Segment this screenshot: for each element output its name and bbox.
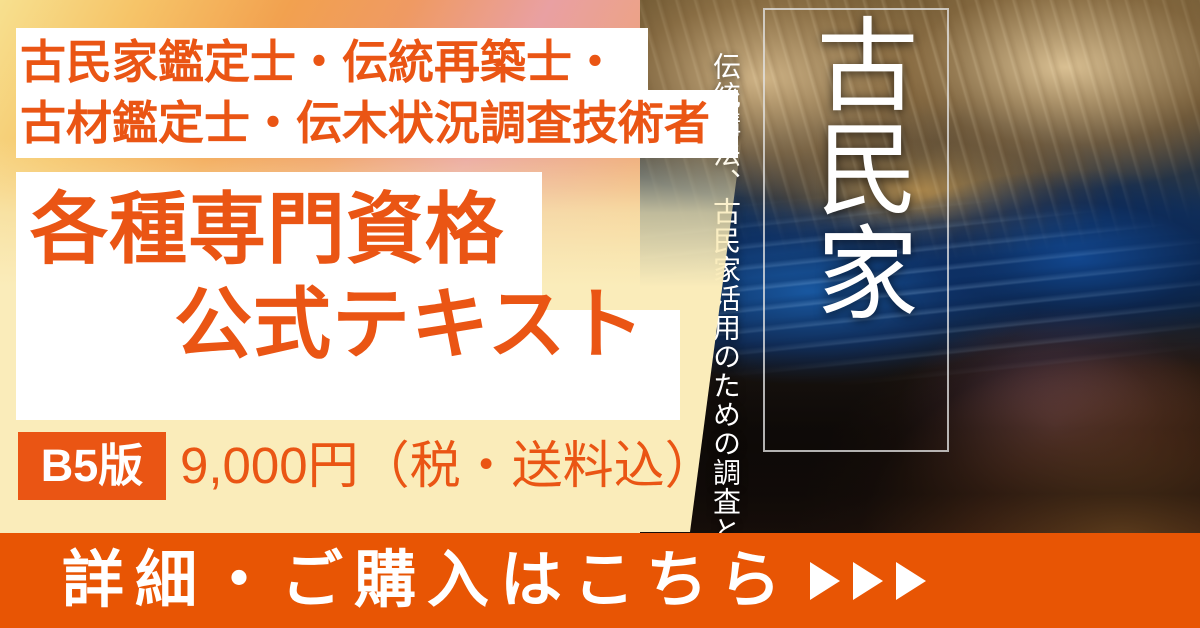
subheadline-line-1: 各種専門資格 bbox=[24, 182, 674, 277]
price-text: 9,000円（税・送料込） bbox=[180, 432, 716, 500]
headline-line-2: 古材鑑定士・伝木状況調査技術者 bbox=[20, 93, 720, 154]
subheadline: 各種専門資格 公式テキスト bbox=[24, 182, 674, 372]
triangle-right-icon bbox=[853, 562, 883, 600]
promo-banner: 古民家 伝統構法、古民家活用のための調査と再生の 古民家鑑定士・伝統再築士・ 古… bbox=[0, 0, 1200, 628]
cta-arrow-group bbox=[810, 562, 926, 600]
triangle-right-icon bbox=[810, 562, 840, 600]
triangle-right-icon bbox=[896, 562, 926, 600]
subheadline-line-2: 公式テキスト bbox=[24, 277, 674, 372]
cta-label: 詳細・ご購入はこちら bbox=[62, 550, 792, 612]
cta-bar[interactable]: 詳細・ご購入はこちら bbox=[0, 533, 1200, 628]
headline: 古民家鑑定士・伝統再築士・ 古材鑑定士・伝木状況調査技術者 bbox=[20, 32, 720, 154]
headline-line-1: 古民家鑑定士・伝統再築士・ bbox=[20, 32, 720, 93]
book-title-vertical: 古民家 bbox=[790, 12, 920, 324]
format-badge: B5版 bbox=[18, 432, 166, 500]
